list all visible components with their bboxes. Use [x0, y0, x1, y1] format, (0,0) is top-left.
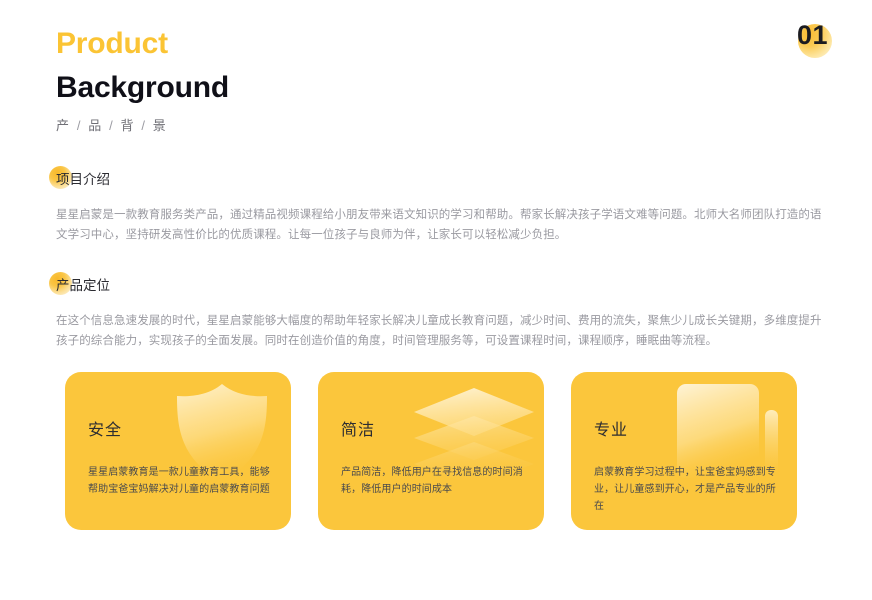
page-subtitle-char-4: 景 — [153, 118, 168, 133]
page-subtitle-char-1: 产 — [56, 118, 71, 133]
subtitle-separator: / — [135, 118, 153, 133]
feature-card-professional[interactable]: 专业 启蒙教育学习过程中，让宝爸宝妈感到专业，让儿童感到开心，才是产品专业的所在 — [571, 372, 797, 530]
page-number: 01 — [797, 22, 828, 49]
subtitle-separator: / — [71, 118, 89, 133]
page-number-label: 01 — [797, 22, 828, 49]
section-project-intro: 项目介绍 星星启蒙是一款教育服务类产品，通过精品视频课程给小朋友带来语文知识的学… — [56, 170, 828, 245]
page-title-line2: Background — [56, 70, 229, 107]
subtitle-separator: / — [103, 118, 121, 133]
feature-card-safety[interactable]: 安全 星星启蒙教育是一款儿童教育工具，能够帮助宝爸宝妈解决对儿童的启蒙教育问题 — [65, 372, 291, 530]
card-body: 启蒙教育学习过程中，让宝爸宝妈感到专业，让儿童感到开心，才是产品专业的所在 — [594, 464, 779, 515]
section-body: 在这个信息急速发展的时代，星星启蒙能够大幅度的帮助年轻家长解决儿童成长教育问题，… — [56, 311, 828, 351]
page-subtitle-char-3: 背 — [121, 118, 136, 133]
page-subtitle-char-2: 品 — [88, 118, 103, 133]
card-title: 安全 — [88, 416, 122, 440]
section-heading: 项目介绍 — [56, 170, 828, 194]
card-title: 专业 — [594, 416, 628, 440]
card-body: 星星启蒙教育是一款儿童教育工具，能够帮助宝爸宝妈解决对儿童的启蒙教育问题 — [88, 464, 273, 498]
page-title-line1: Product — [56, 26, 229, 63]
section-heading: 产品定位 — [56, 276, 828, 300]
feature-card-simplicity[interactable]: 简洁 产品简洁，降低用户在寻找信息的时间消耗，降低用户的时间成本 — [318, 372, 544, 530]
page-subtitle: 产 / 品 / 背 / 景 — [56, 115, 229, 134]
feature-card-list: 安全 星星启蒙教育是一款儿童教育工具，能够帮助宝爸宝妈解决对儿童的启蒙教育问题 — [65, 372, 797, 530]
card-title: 简洁 — [341, 416, 375, 440]
section-product-positioning: 产品定位 在这个信息急速发展的时代，星星启蒙能够大幅度的帮助年轻家长解决儿童成长… — [56, 276, 828, 351]
section-title: 产品定位 — [56, 278, 110, 293]
card-body: 产品简洁，降低用户在寻找信息的时间消耗，降低用户的时间成本 — [341, 464, 526, 498]
section-title: 项目介绍 — [56, 172, 110, 187]
section-body: 星星启蒙是一款教育服务类产品，通过精品视频课程给小朋友带来语文知识的学习和帮助。… — [56, 205, 828, 245]
slide-root: 01 Product Background 产 / 品 / 背 / 景 项目介绍… — [0, 0, 872, 600]
page-header: Product Background 产 / 品 / 背 / 景 — [56, 26, 229, 134]
